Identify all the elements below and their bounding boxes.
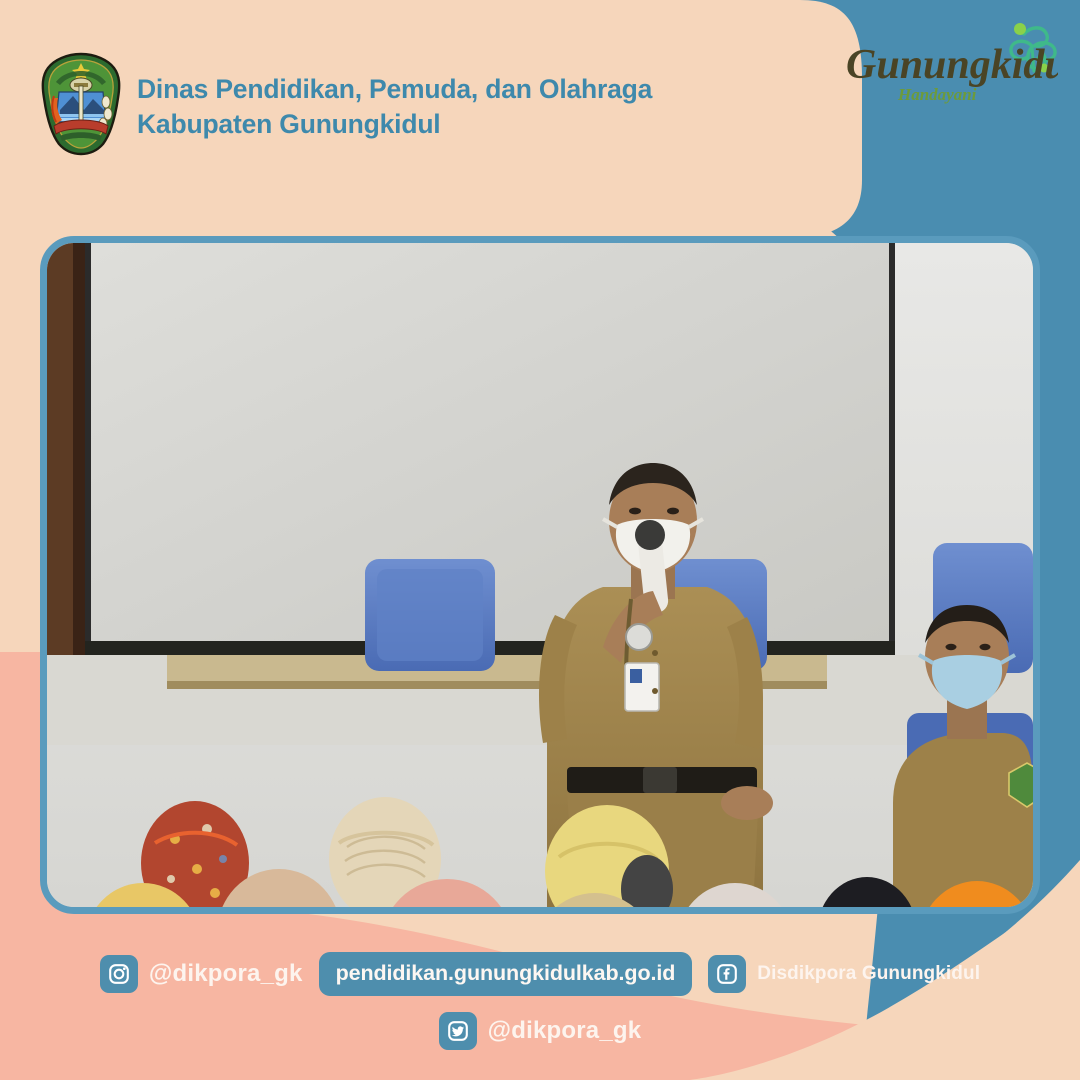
logo-wordmark: Gunungkidul — [846, 42, 1058, 88]
gunungkidul-regency-crest-icon: GK — [40, 52, 122, 156]
event-photo-card — [40, 236, 1040, 914]
website-button[interactable]: pendidikan.gunungkidulkab.go.id — [319, 952, 693, 996]
twitter-icon[interactable] — [439, 1012, 477, 1050]
footer-row-secondary: @dikpora_gk — [0, 1012, 1080, 1050]
instagram-link[interactable]: @dikpora_gk — [100, 955, 303, 993]
facebook-page-name: Disdikpora Gunungkidul — [757, 963, 980, 985]
instagram-icon[interactable] — [100, 955, 138, 993]
twitter-handle: @dikpora_gk — [488, 1017, 642, 1045]
footer-row-primary: @dikpora_gk pendidikan.gunungkidulkab.go… — [0, 952, 1080, 996]
gunungkidul-handayani-logo: Gunungkidul Handayani — [828, 16, 1058, 126]
poster-footer: @dikpora_gk pendidikan.gunungkidulkab.go… — [0, 930, 1080, 1080]
instagram-handle: @dikpora_gk — [149, 960, 303, 988]
page-title: Dinas Pendidikan, Pemuda, dan Olahraga K… — [137, 72, 652, 142]
poster-header: GK Dinas Pendidikan, Pemuda, dan Olahrag… — [0, 0, 1080, 200]
facebook-link[interactable]: Disdikpora Gunungkidul — [708, 955, 980, 993]
facebook-icon[interactable] — [708, 955, 746, 993]
event-photo-illustration — [47, 243, 1033, 907]
twitter-link[interactable]: @dikpora_gk — [439, 1012, 642, 1050]
logo-tagline: Handayani — [897, 85, 977, 104]
event-photo — [47, 243, 1033, 907]
